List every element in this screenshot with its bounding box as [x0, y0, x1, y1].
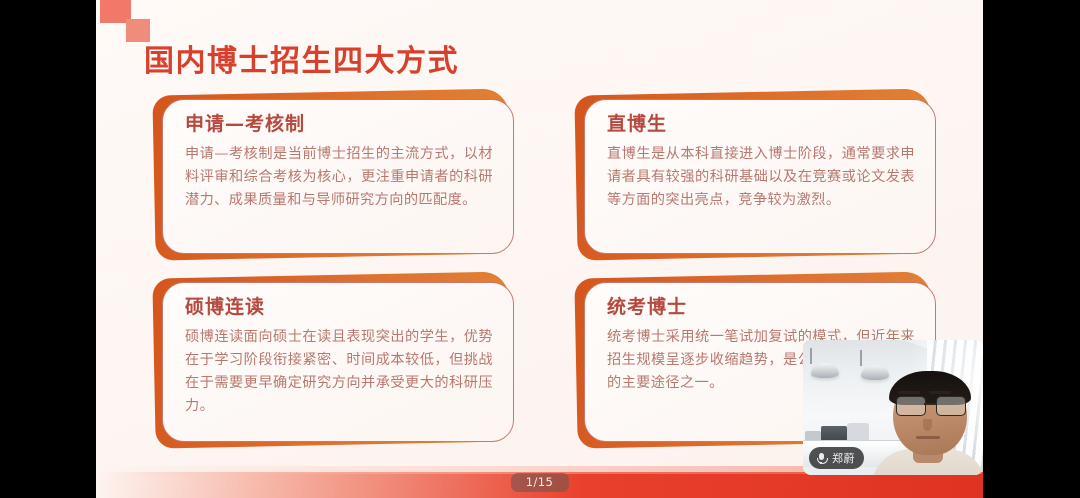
- slide-title: 国内博士招生四大方式: [144, 36, 459, 80]
- participant-name: 郑蔚: [832, 450, 855, 466]
- card-item: 直博生 直博生是从本科直接进入博士阶段，通常要求申请者具有较强的科研基础以及在竞…: [576, 92, 938, 257]
- card-item: 申请—考核制 申请—考核制是当前博士招生的主流方式，以材料评审和综合考核为核心，…: [154, 92, 516, 257]
- microphone-icon: [815, 452, 827, 464]
- participant-video-tile[interactable]: 郑蔚: [803, 340, 983, 475]
- participant-name-tag: 郑蔚: [809, 447, 864, 469]
- card-item: 硕博连读 硕博连读面向硕士在读且表现突出的学生，优势在于学习阶段衔接紧密、时间成…: [154, 275, 516, 445]
- card-body-panel: 申请—考核制 申请—考核制是当前博士招生的主流方式，以材料评审和综合考核为核心，…: [162, 99, 514, 254]
- card-description: 硕博连读面向硕士在读且表现突出的学生，优势在于学习阶段衔接紧密、时间成本较低，但…: [185, 326, 493, 418]
- card-title: 统考博士: [607, 296, 915, 320]
- card-title: 直博生: [607, 113, 915, 137]
- meeting-screen-share-view: 国内博士招生四大方式 申请—考核制 申请—考核制是当前博士招生的主流方式，以材料…: [0, 0, 1080, 498]
- participant-portrait: [877, 371, 981, 475]
- page-indicator: 1/15: [511, 473, 569, 492]
- card-description: 申请—考核制是当前博士招生的主流方式，以材料评审和综合考核为核心，更注重申请者的…: [185, 143, 493, 212]
- letterbox-left: [0, 0, 96, 498]
- letterbox-right: [983, 0, 1080, 498]
- card-title: 申请—考核制: [185, 113, 493, 137]
- card-title: 硕博连读: [185, 296, 493, 320]
- card-body-panel: 直博生 直博生是从本科直接进入博士阶段，通常要求申请者具有较强的科研基础以及在竞…: [584, 99, 936, 254]
- eyeglasses-icon: [895, 396, 967, 415]
- card-description: 直博生是从本科直接进入博士阶段，通常要求申请者具有较强的科研基础以及在竞赛或论文…: [607, 143, 915, 212]
- card-body-panel: 硕博连读 硕博连读面向硕士在读且表现突出的学生，优势在于学习阶段衔接紧密、时间成…: [162, 282, 514, 442]
